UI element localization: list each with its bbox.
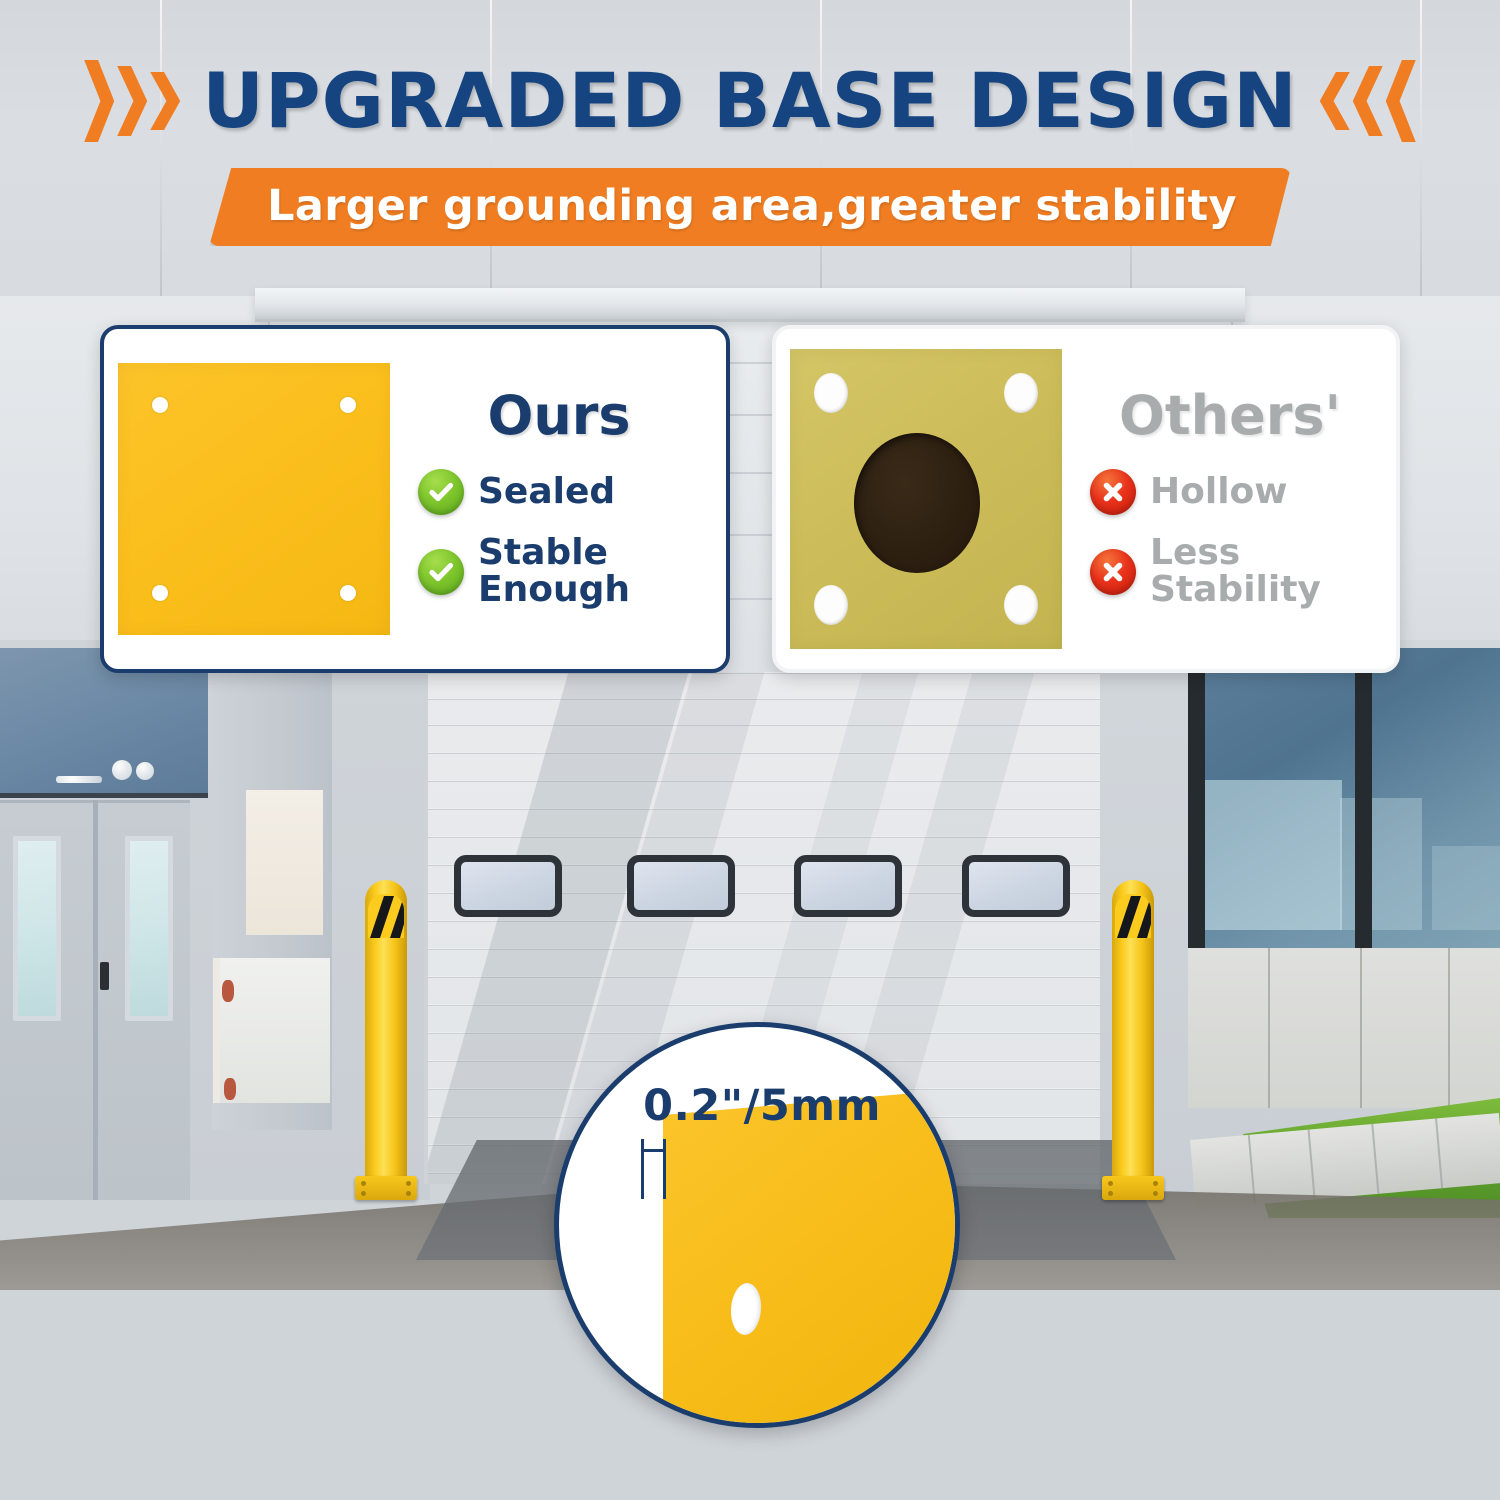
bolt-hole — [1004, 585, 1038, 625]
bolt-hole — [1004, 373, 1038, 413]
ours-base-plate-image — [118, 363, 390, 635]
cream-wall-panel — [246, 790, 323, 935]
garage-door-window — [627, 855, 735, 917]
thickness-callout-circle: 0.2"/5mm — [554, 1022, 960, 1428]
safety-bollard-right — [1102, 880, 1162, 1200]
thickness-measurement-label: 0.2"/5mm — [559, 1081, 960, 1131]
window-mullion — [1188, 648, 1205, 948]
center-hollow-hole — [854, 433, 980, 573]
feature-label: Hollow — [1150, 474, 1288, 511]
others-feature-list: Hollow Less Stability — [1084, 469, 1396, 608]
bolt-hole — [814, 585, 848, 625]
bolt-hole — [152, 585, 168, 601]
x-circle-icon — [1090, 469, 1136, 515]
plate-edge-closeup — [663, 1086, 960, 1428]
ours-plate-area — [104, 329, 404, 669]
bolt-hole — [814, 373, 848, 413]
feature-row: Less Stability — [1090, 535, 1396, 608]
feature-row: Stable Enough — [418, 535, 726, 608]
door-glass-pane — [125, 836, 173, 1021]
garage-door-window — [794, 855, 902, 917]
feature-label: Sealed — [478, 474, 615, 511]
bollard-base-plate — [1102, 1176, 1164, 1200]
others-plate-area — [776, 329, 1076, 669]
safety-bollard-left — [355, 880, 415, 1200]
x-circle-icon — [1090, 549, 1136, 595]
check-circle-icon — [418, 469, 464, 515]
others-base-plate-image — [790, 349, 1062, 649]
hazard-stripe-icon — [1115, 894, 1151, 938]
ours-feature-list: Sealed Stable Enough — [412, 469, 726, 608]
chevrons-left-icon — [1320, 60, 1416, 142]
header-block: UPGRADED BASE DESIGN Larger grounding ar… — [0, 60, 1500, 246]
ours-label: Ours — [412, 389, 726, 443]
bolt-hole — [340, 585, 356, 601]
hazard-stripe-icon — [368, 894, 404, 938]
subtitle-wrap: Larger grounding area,greater stability — [0, 168, 1500, 246]
feature-row: Hollow — [1090, 469, 1396, 515]
door-handle[interactable] — [100, 962, 109, 990]
stone-base-wall — [1188, 948, 1500, 1108]
others-info-area: Others' Hollow Less — [1076, 329, 1396, 669]
feature-label: Less Stability — [1150, 535, 1321, 608]
feature-label: Stable Enough — [478, 535, 630, 608]
thickness-caliper-icon — [641, 1139, 671, 1199]
garage-door-window — [454, 855, 562, 917]
page-title: UPGRADED BASE DESIGN — [202, 63, 1298, 139]
comparison-card-ours: Ours Sealed Stable Enough — [100, 325, 730, 673]
garage-door-window — [962, 855, 1070, 917]
infographic-canvas: UPGRADED BASE DESIGN Larger grounding ar… — [0, 0, 1500, 1500]
subtitle-banner: Larger grounding area,greater stability — [209, 168, 1291, 246]
page-subtitle: Larger grounding area,greater stability — [267, 181, 1237, 231]
window-mullion — [1355, 648, 1372, 948]
feature-row: Sealed — [418, 469, 726, 515]
chevrons-right-icon — [84, 60, 180, 142]
check-circle-icon — [418, 549, 464, 595]
textured-wall-patch — [213, 958, 330, 1103]
others-label: Others' — [1084, 389, 1396, 443]
entry-canopy — [255, 288, 1245, 322]
ours-info-area: Ours Sealed Stable Enough — [404, 329, 726, 669]
title-row: UPGRADED BASE DESIGN — [0, 60, 1500, 142]
comparison-card-others: Others' Hollow Less — [772, 325, 1400, 673]
bollard-base-plate — [355, 1176, 417, 1200]
bolt-hole — [340, 397, 356, 413]
bolt-hole — [152, 397, 168, 413]
door-glass-pane — [13, 836, 61, 1021]
right-tinted-window — [1188, 648, 1500, 948]
door-divider — [93, 800, 98, 1200]
